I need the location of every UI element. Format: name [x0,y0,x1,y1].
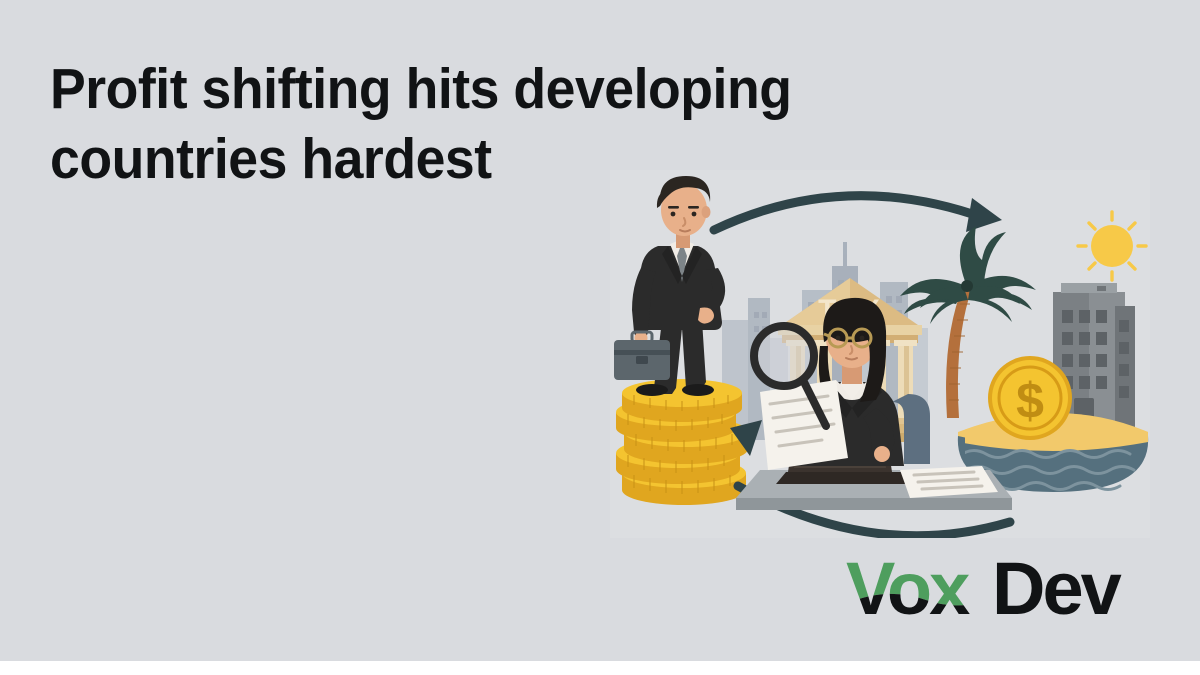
dollar-coin: $ [988,356,1072,440]
bottom-white-strip [0,661,1200,675]
profit-shifting-illustration: TAX [610,170,1150,538]
document-sheet [760,380,848,470]
logo-dev: Dev [992,552,1122,628]
page-title: Profit shifting hits developing countrie… [50,54,633,194]
headline-line-1: Profit shifting hits developing [50,54,633,124]
voxdev-logo[interactable]: Vox Vox Dev [846,552,1146,628]
headline-line-2: countries hardest [50,124,633,194]
coin-stack [616,379,748,505]
voxdev-social-card: Profit shifting hits developing countrie… [0,0,1200,675]
dollar-coin-label: $ [1016,373,1044,429]
